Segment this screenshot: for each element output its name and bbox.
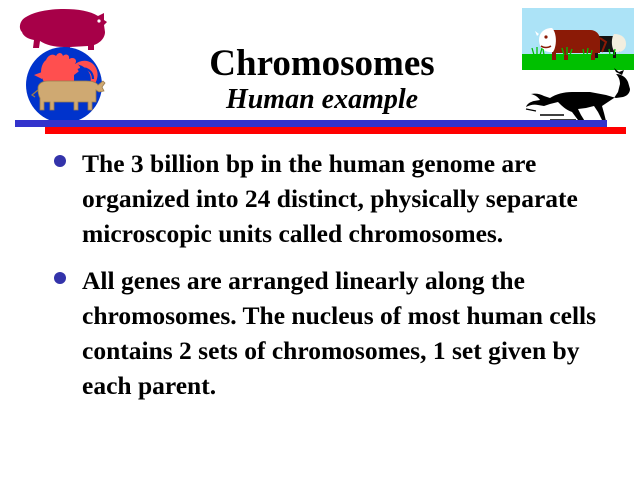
slide-header: Chromosomes Human example: [0, 0, 640, 132]
list-item: The 3 billion bp in the human genome are…: [52, 146, 618, 251]
divider-rule-blue: [15, 120, 607, 127]
slide-canvas: Chromosomes Human example: [0, 0, 640, 480]
list-item: All genes are arranged linearly along th…: [52, 263, 618, 403]
livestock-roundel-logo: [8, 2, 120, 128]
horse-motion-lines: [526, 109, 576, 120]
galloping-horse-silhouette: [520, 68, 636, 128]
cattle-photo-svg: [522, 8, 634, 70]
hereford-cattle-photo: [522, 8, 634, 70]
bullet-text: All genes are arranged linearly along th…: [82, 266, 596, 400]
page-subtitle: Human example: [130, 84, 514, 115]
bullet-list: The 3 billion bp in the human genome are…: [52, 146, 618, 415]
page-title: Chromosomes: [130, 44, 514, 84]
bullet-marker-icon: [54, 272, 66, 284]
title-block: Chromosomes Human example: [130, 44, 514, 115]
livestock-roundel-svg: [8, 2, 120, 128]
divider-rule-red: [45, 127, 626, 134]
horse-svg: [520, 68, 636, 128]
pig-icon: [20, 9, 107, 51]
bullet-text: The 3 billion bp in the human genome are…: [82, 149, 578, 248]
bullet-marker-icon: [54, 155, 66, 167]
